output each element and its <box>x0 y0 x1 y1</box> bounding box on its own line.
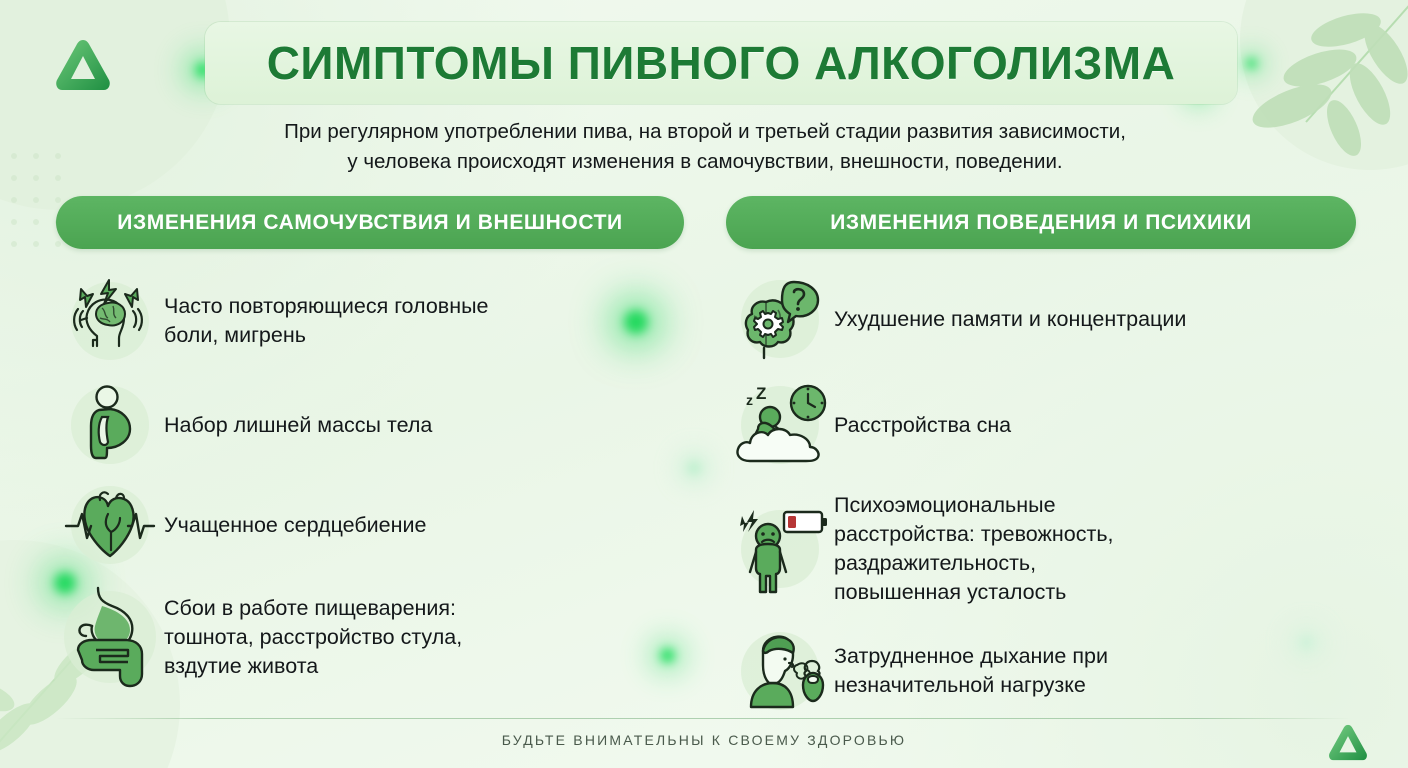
list-item-label: Расстройства сна <box>834 411 1011 440</box>
page-title: СИМПТОМЫ ПИВНОГО АЛКОГОЛИЗМА <box>205 22 1237 104</box>
list-item: Затрудненное дыхание при незначительной … <box>726 619 1366 723</box>
text-line: Часто повторяющиеся головные <box>164 292 489 321</box>
decor-glow-3 <box>1246 58 1257 69</box>
list-item: Учащенное сердцебиение <box>56 475 696 575</box>
decor-blob-top-right <box>1240 0 1408 170</box>
infographic-canvas: СИМПТОМЫ ПИВНОГО АЛКОГОЛИЗМА При регуляр… <box>0 0 1408 768</box>
column-behavioral-changes: ИЗМЕНЕНИЯ ПОВЕДЕНИЯ И ПСИХИКИ <box>726 196 1366 723</box>
svg-text:z: z <box>746 392 753 408</box>
stomach-intestine-icon <box>56 587 164 687</box>
list-item-label: Ухудшение памяти и концентрации <box>834 305 1186 334</box>
footer-message: БУДЬТЕ ВНИМАТЕЛЬНЫ К СВОЕМУ ЗДОРОВЬЮ <box>0 732 1408 748</box>
footer-divider <box>56 718 1352 719</box>
text-line: тошнота, расстройство стула, <box>164 623 462 652</box>
text-line: боли, мигрень <box>164 321 489 350</box>
brain-gear-question-icon <box>726 269 834 369</box>
text-line: Расстройства сна <box>834 411 1011 440</box>
section-heading-physical: ИЗМЕНЕНИЯ САМОЧУВСТВИЯ И ВНЕШНОСТИ <box>56 196 684 249</box>
subtitle-line-2: у человека происходят изменения в самочу… <box>150 147 1260 177</box>
text-line: расстройства: тревожность, <box>834 520 1114 549</box>
text-line: Психоэмоциональные <box>834 491 1114 520</box>
text-line: Набор лишней массы тела <box>164 411 432 440</box>
section-heading-behavioral: ИЗМЕНЕНИЯ ПОВЕДЕНИЯ И ПСИХИКИ <box>726 196 1356 249</box>
column-physical-changes: ИЗМЕНЕНИЯ САМОЧУВСТВИЯ И ВНЕШНОСТИ <box>56 196 696 699</box>
list-item-label: Сбои в работе пищеварения: тошнота, расс… <box>164 594 462 681</box>
list-item: z Z <box>726 371 1366 479</box>
symptom-list-physical: Часто повторяющиеся головные боли, мигре… <box>56 267 696 699</box>
heart-ecg-icon <box>56 475 164 575</box>
list-item-label: Затрудненное дыхание при незначительной … <box>834 642 1108 700</box>
head-migraine-icon <box>56 271 164 371</box>
subtitle-line-1: При регулярном употреблении пива, на вто… <box>150 117 1260 147</box>
text-line: Затрудненное дыхание при <box>834 642 1108 671</box>
list-item: Часто повторяющиеся головные боли, мигре… <box>56 267 696 375</box>
list-item: Ухудшение памяти и концентрации <box>726 267 1366 371</box>
sleep-cloud-clock-icon: z Z <box>726 375 834 475</box>
text-line: Сбои в работе пищеварения: <box>164 594 462 623</box>
text-line: повышенная усталость <box>834 578 1114 607</box>
list-item-label: Учащенное сердцебиение <box>164 511 426 540</box>
text-line: Ухудшение памяти и концентрации <box>834 305 1186 334</box>
list-item-label: Психоэмоциональные расстройства: тревожн… <box>834 491 1114 607</box>
text-line: незначительной нагрузке <box>834 671 1108 700</box>
symptom-list-behavioral: Ухудшение памяти и концентрации <box>726 267 1366 723</box>
footer-triangle-logo-icon <box>1326 722 1370 763</box>
triangle-logo-icon <box>52 36 114 94</box>
text-line: вздутие живота <box>164 652 462 681</box>
decor-leaf-top-right <box>1246 0 1408 169</box>
overweight-body-icon <box>56 375 164 475</box>
breathless-person-kettlebell-icon <box>726 621 834 721</box>
list-item-label: Набор лишней массы тела <box>164 411 432 440</box>
decor-blob-top-left <box>0 0 230 210</box>
list-item: Сбои в работе пищеварения: тошнота, расс… <box>56 575 696 699</box>
svg-text:Z: Z <box>756 384 766 403</box>
list-item: Набор лишней массы тела <box>56 375 696 475</box>
list-item: Психоэмоциональные расстройства: тревожн… <box>726 479 1366 619</box>
text-line: раздражительность, <box>834 549 1114 578</box>
page-subtitle: При регулярном употреблении пива, на вто… <box>150 117 1260 177</box>
text-line: Учащенное сердцебиение <box>164 511 426 540</box>
list-item-label: Часто повторяющиеся головные боли, мигре… <box>164 292 489 350</box>
tired-person-battery-icon <box>726 499 834 599</box>
